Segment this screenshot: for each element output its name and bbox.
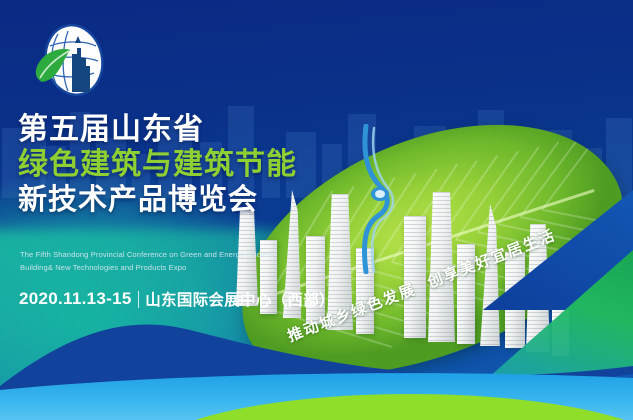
expo-poster: 第五届山东省 绿色建筑与建筑节能 新技术产品博览会 The Fifth Shan…: [0, 0, 633, 420]
date-venue-bar: 2020.11.13-15 山东国际会展中心（西部）: [19, 288, 335, 310]
english-subtitle-line-2: Building& New Technologies and Products …: [20, 262, 310, 275]
title-line-2: 绿色建筑与建筑节能: [18, 147, 318, 182]
date-venue-separator: [138, 291, 140, 308]
globe-leaf-city-logo: [28, 18, 116, 106]
english-subtitle-line-1: The Fifth Shandong Provincial Conference…: [20, 249, 310, 262]
english-subtitle: The Fifth Shandong Provincial Conference…: [20, 249, 310, 274]
event-venue: 山东国际会展中心（西部）: [145, 288, 335, 310]
building: [477, 204, 503, 346]
title-line-1: 第五届山东省: [18, 112, 318, 147]
event-date: 2020.11.13-15: [19, 289, 132, 309]
blue-ribbon-tower: [340, 124, 398, 274]
title-line-3: 新技术产品博览会: [18, 183, 318, 217]
page-title: 第五届山东省 绿色建筑与建筑节能 新技术产品博览会: [18, 112, 318, 217]
building: [404, 216, 426, 338]
